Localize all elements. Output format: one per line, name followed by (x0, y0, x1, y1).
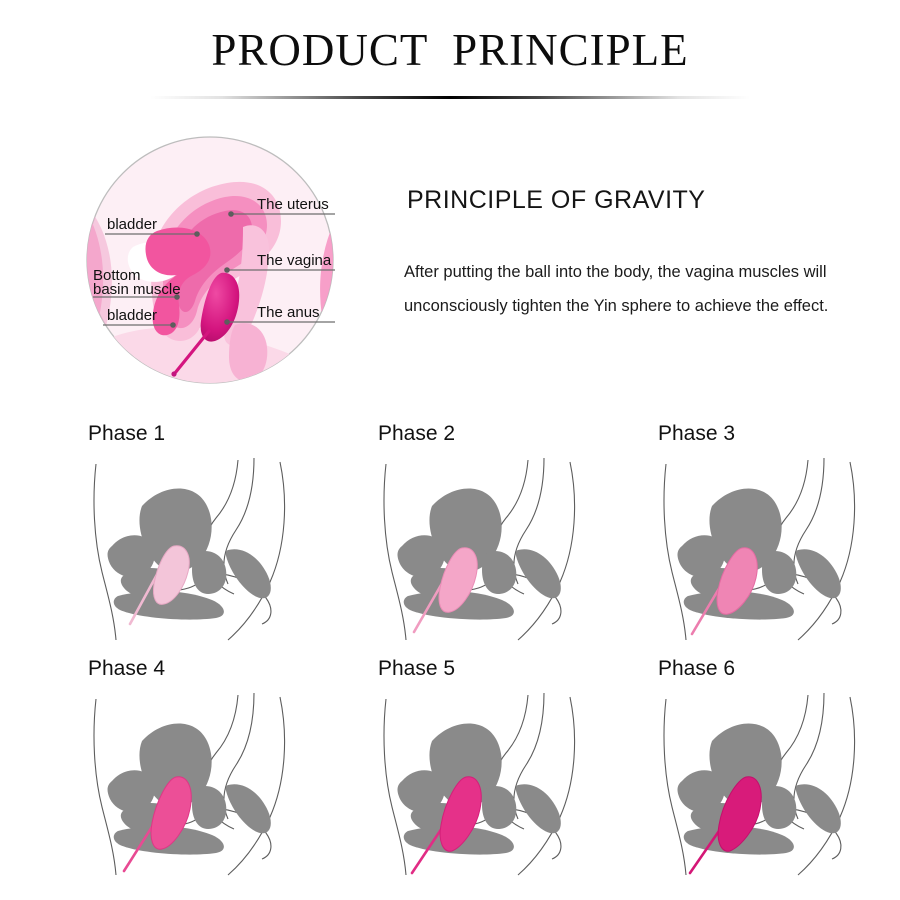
label-the-anus: The anus (257, 304, 320, 321)
anatomy-diagram: The uterus The vagina The anus bladder B… (85, 135, 335, 385)
phase-label-5: Phase 5 (378, 657, 455, 681)
phase-cell-5: Phase 5 (368, 647, 653, 882)
phase-grid: Phase 1 (0, 412, 900, 882)
phase-label-4: Phase 4 (88, 657, 165, 681)
phase-label-3: Phase 3 (658, 422, 735, 446)
phase-cell-2: Phase 2 (368, 412, 653, 647)
label-the-uterus: The uterus (257, 196, 329, 213)
label-bladder-lower: bladder (107, 307, 157, 324)
label-bladder-upper: bladder (107, 216, 157, 233)
phase-figure-2 (368, 454, 618, 644)
phase-cell-1: Phase 1 (78, 412, 363, 647)
phase-row-bottom: Phase 4 (0, 647, 900, 882)
phase-cell-3: Phase 3 (648, 412, 900, 647)
phase-label-2: Phase 2 (378, 422, 455, 446)
phase-figure-3 (648, 454, 898, 644)
gravity-body-text: After putting the ball into the body, th… (404, 255, 874, 323)
phase-label-6: Phase 6 (658, 657, 735, 681)
phase-figure-4 (78, 689, 328, 879)
phase-label-1: Phase 1 (88, 422, 165, 446)
phase-figure-6 (648, 689, 898, 879)
page-title: PRODUCT PRINCIPLE (0, 24, 900, 76)
phase-cell-4: Phase 4 (78, 647, 363, 882)
label-the-vagina: The vagina (257, 252, 332, 269)
label-bottom-basin-muscle-line2: basin muscle (93, 281, 181, 298)
phase-cell-6: Phase 6 (648, 647, 900, 882)
phase-figure-1 (78, 454, 328, 644)
product-principle-infographic: PRODUCT PRINCIPLE (0, 0, 900, 900)
phase-figure-5 (368, 689, 618, 879)
phase-row-top: Phase 1 (0, 412, 900, 647)
gravity-heading: PRINCIPLE OF GRAVITY (407, 186, 705, 215)
title-divider (150, 96, 750, 99)
